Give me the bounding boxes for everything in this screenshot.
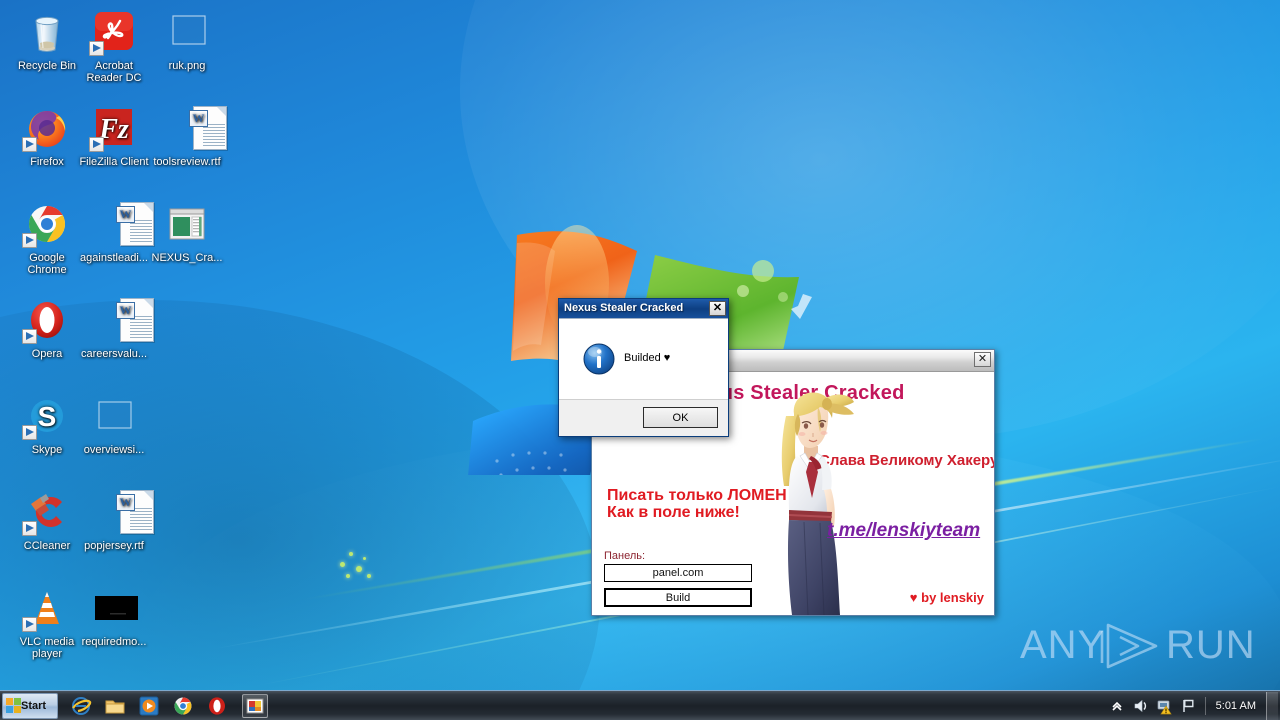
word-document-icon: W [90, 296, 138, 344]
desktop-icon-vlc-media-player[interactable]: VLC media player [10, 584, 84, 660]
desktop-icon-label: FileZilla Client [77, 156, 151, 168]
desktop-icon-label: overviewsi... [77, 444, 151, 456]
network-warning-icon[interactable] [1156, 697, 1174, 715]
desktop-icon-nexus-cracked[interactable]: NEXUS_Cra... [150, 200, 224, 264]
dialog-content: Builded ♥ [559, 319, 728, 400]
desktop-icon-label: toolsreview.rtf [150, 156, 224, 168]
dialog-footer: OK [559, 400, 728, 436]
desktop-icon-skype[interactable]: S Skype [10, 392, 84, 456]
builder-credit: ♥ by lenskiy [910, 590, 984, 605]
svg-text:S: S [38, 401, 57, 432]
opera-icon[interactable] [206, 695, 228, 717]
desktop-icon-label: careersvalu... [77, 348, 151, 360]
close-icon[interactable]: ✕ [974, 352, 991, 367]
wallpaper-sparkles [338, 548, 378, 588]
desktop-icon-grid: Recycle Bin Acrobat Reader DC [0, 0, 230, 690]
panel-url-input[interactable] [604, 564, 752, 582]
information-icon [583, 343, 615, 375]
desktop-icon-label: ruk.png [150, 60, 224, 72]
volume-icon[interactable] [1132, 697, 1150, 715]
desktop-icon-ccleaner[interactable]: CCleaner [10, 488, 84, 552]
desktop-icon-label: Acrobat Reader DC [77, 60, 151, 84]
show-desktop-button[interactable] [1266, 692, 1278, 720]
ccleaner-icon [23, 488, 71, 536]
image-file-icon [163, 8, 211, 56]
watermark-any-text: ANY [1020, 623, 1105, 668]
filezilla-icon: Fz [90, 104, 138, 152]
shortcut-overlay-icon [89, 137, 104, 152]
vb-application-icon [246, 698, 264, 714]
desktop-icon-careersvalue-doc[interactable]: W careersvalu... [77, 296, 151, 360]
desktop-icon-label: Google Chrome [10, 252, 84, 276]
desktop-icon-popjersey-rtf[interactable]: W popjersey.rtf [77, 488, 151, 552]
desktop-icon-filezilla[interactable]: Fz FileZilla Client [77, 104, 151, 168]
dialog-message-text: Builded ♥ [624, 352, 670, 364]
desktop-icon-overviewsi-image[interactable]: overviewsi... [77, 392, 151, 456]
skype-icon: S [23, 392, 71, 440]
desktop-icon-label: Recycle Bin [10, 60, 84, 72]
panel-field-label: Панель: [604, 550, 645, 562]
desktop-icon-firefox[interactable]: Firefox [10, 104, 84, 168]
builder-warning-text: Писать только ЛОМЕН Как в поле ниже! [607, 487, 787, 521]
desktop-icon-label: Firefox [10, 156, 84, 168]
shortcut-overlay-icon [22, 137, 37, 152]
desktop-icon-ruk-png[interactable]: ruk.png [150, 8, 224, 72]
dialog-titlebar[interactable]: Nexus Stealer Cracked ✕ [559, 299, 728, 319]
windows-orb-icon [5, 697, 22, 714]
watermark-run-text: RUN [1166, 623, 1256, 668]
system-tray: 5:01 AM [1105, 691, 1280, 720]
desktop-icon-label: popjersey.rtf [77, 540, 151, 552]
vlc-icon [23, 584, 71, 632]
builder-warning-line1: Писать только ЛОМЕН [607, 487, 787, 504]
taskbar: Start [0, 690, 1280, 720]
desktop-icon-google-chrome[interactable]: Google Chrome [10, 200, 84, 276]
word-document-icon: W [90, 488, 138, 536]
desktop-icon-label: CCleaner [10, 540, 84, 552]
desktop-icon-label: VLC media player [10, 636, 84, 660]
build-button[interactable]: Build [604, 588, 752, 607]
recycle-bin-icon [23, 8, 71, 56]
desktop-icon-acrobat-reader[interactable]: Acrobat Reader DC [77, 8, 151, 84]
shortcut-overlay-icon [22, 233, 37, 248]
word-document-icon: W [90, 200, 138, 248]
play-triangle-icon [1098, 619, 1166, 673]
windows-media-player-icon[interactable] [138, 695, 160, 717]
acrobat-reader-icon [90, 8, 138, 56]
builder-warning-line2: Как в поле ниже! [607, 504, 740, 521]
tray-divider [1205, 697, 1206, 715]
start-button[interactable]: Start [2, 693, 58, 719]
builder-slogan: Слава Великому Хакеру [819, 452, 994, 469]
chrome-icon[interactable] [172, 695, 194, 717]
desktop-icon-toolsreview-rtf[interactable]: W toolsreview.rtf [150, 104, 224, 168]
show-hidden-icons-icon[interactable] [1108, 697, 1126, 715]
word-document-icon: W [163, 104, 211, 152]
task-button-builder[interactable] [242, 694, 268, 718]
desktop-icon-label: Skype [10, 444, 84, 456]
opera-icon [23, 296, 71, 344]
desktop-icon-label: NEXUS_Cra... [150, 252, 224, 264]
application-window-icon [163, 200, 211, 248]
desktop-icon-opera[interactable]: Opera [10, 296, 84, 360]
image-file-icon [90, 392, 138, 440]
anyrun-watermark: ANY RUN [1020, 617, 1256, 675]
desktop-screen: Recycle Bin Acrobat Reader DC [0, 0, 1280, 720]
shortcut-overlay-icon [22, 521, 37, 536]
firefox-icon [23, 104, 71, 152]
shortcut-overlay-icon [22, 617, 37, 632]
desktop-icon-requiredmo-thumbnail[interactable]: requiredmo... [77, 584, 151, 648]
task-button-area [242, 694, 268, 718]
builded-message-dialog[interactable]: Nexus Stealer Cracked ✕ Builded ♥ OK [558, 298, 729, 437]
close-icon[interactable]: ✕ [709, 301, 726, 316]
shortcut-overlay-icon [22, 425, 37, 440]
start-label: Start [21, 700, 46, 712]
chrome-icon [23, 200, 71, 248]
ok-button[interactable]: OK [643, 407, 718, 428]
desktop-icon-label: againstleadi... [77, 252, 151, 264]
windows-explorer-icon[interactable] [104, 695, 126, 717]
internet-explorer-icon[interactable] [70, 695, 92, 717]
shortcut-overlay-icon [22, 329, 37, 344]
quick-launch-bar [70, 695, 228, 717]
black-thumbnail-icon [90, 584, 138, 632]
shortcut-overlay-icon [89, 41, 104, 56]
desktop-icon-recycle-bin[interactable]: Recycle Bin [10, 8, 84, 72]
telegram-link[interactable]: t.me/lenskiyteam [827, 520, 980, 542]
desktop-icon-label: Opera [10, 348, 84, 360]
desktop-icon-label: requiredmo... [77, 636, 151, 648]
clock[interactable]: 5:01 AM [1216, 700, 1256, 712]
dialog-title: Nexus Stealer Cracked [564, 302, 683, 314]
action-center-flag-icon[interactable] [1180, 697, 1198, 715]
desktop-icon-againstleading-doc[interactable]: W againstleadi... [77, 200, 151, 264]
